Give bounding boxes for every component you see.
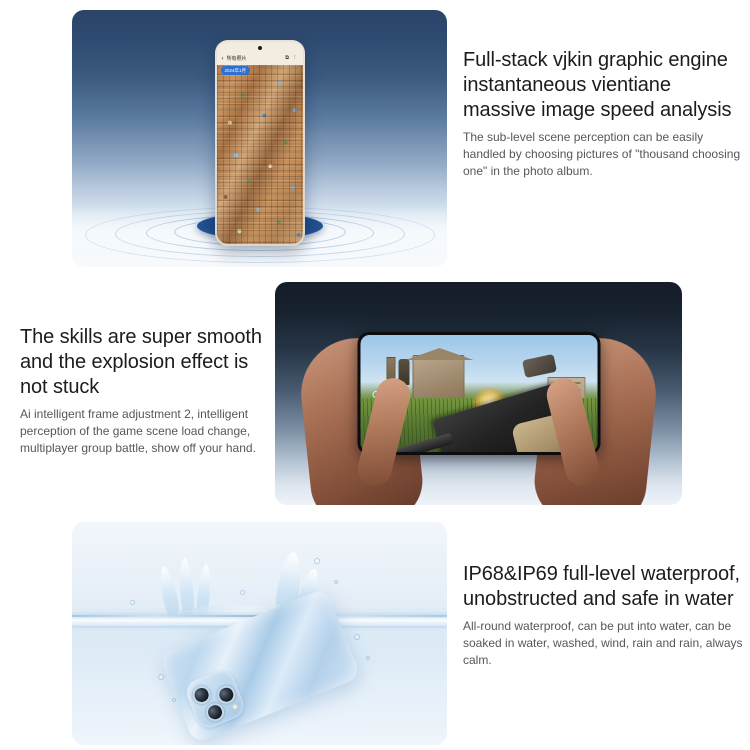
- feature-image-gaming: [275, 282, 682, 505]
- phone-screen: ‹ 所有照片 ⧉ ⋮ 2024年1月: [217, 42, 303, 244]
- camera-lens-icon: [203, 700, 226, 723]
- front-camera-icon: [258, 46, 262, 50]
- product-feature-page: ‹ 所有照片 ⧉ ⋮ 2024年1月 Full-stack vjkin grap…: [0, 0, 750, 750]
- game-debris: [521, 354, 556, 378]
- gallery-app-bar: ‹ 所有照片 ⧉ ⋮: [217, 52, 303, 65]
- water-droplet: [314, 558, 320, 564]
- photo-mosaic-grid[interactable]: [217, 63, 303, 244]
- water-droplet: [354, 634, 360, 640]
- water-droplet: [158, 674, 164, 680]
- gallery-title: 所有照片: [227, 55, 283, 62]
- camera-lens-icon: [190, 683, 213, 706]
- feature-body: The sub-level scene perception can be ea…: [463, 129, 748, 180]
- overflow-menu-icon[interactable]: ⋮: [292, 56, 298, 62]
- select-icon[interactable]: ⧉: [285, 56, 289, 62]
- feature-text-gallery: Full-stack vjkin graphic engine instanta…: [463, 48, 748, 180]
- feature-text-waterproof: IP68&IP69 full-level waterproof, unobstr…: [463, 562, 748, 669]
- phone-portrait: ‹ 所有照片 ⧉ ⋮ 2024年1月: [215, 40, 305, 246]
- feature-heading: Full-stack vjkin graphic engine instanta…: [463, 48, 748, 123]
- game-building: [412, 355, 464, 399]
- water-droplet: [130, 600, 135, 605]
- feature-image-waterproof: [72, 522, 447, 745]
- feature-image-gallery: ‹ 所有照片 ⧉ ⋮ 2024年1月: [72, 10, 447, 267]
- water-droplet: [366, 656, 370, 660]
- feature-heading: The skills are super smooth and the expl…: [20, 325, 270, 400]
- feature-heading: IP68&IP69 full-level waterproof, unobstr…: [463, 562, 748, 612]
- camera-flash-icon: [232, 704, 239, 711]
- feature-text-gaming: The skills are super smooth and the expl…: [20, 325, 270, 457]
- back-icon[interactable]: ‹: [222, 56, 224, 62]
- feature-body: Ai intelligent frame adjustment 2, intel…: [20, 406, 270, 457]
- feature-body: All-round waterproof, can be put into wa…: [463, 618, 748, 669]
- camera-module: [183, 667, 248, 732]
- water-droplet: [334, 580, 338, 584]
- water-droplet: [240, 590, 245, 595]
- date-chip: 2024年1月: [221, 66, 251, 75]
